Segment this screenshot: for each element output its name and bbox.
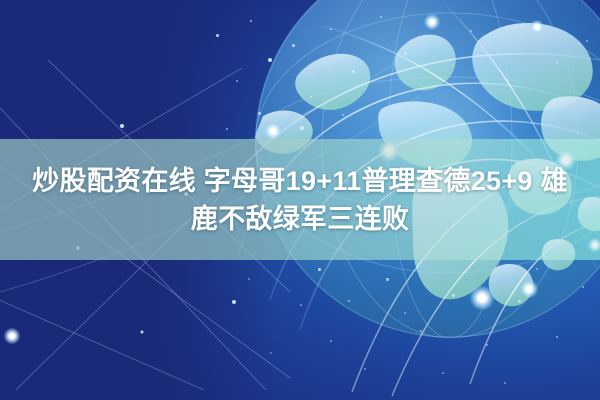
glow-node (264, 122, 282, 140)
headline-text: 炒股配资在线 字母哥19+11普理查德25+9 雄 鹿不敌绿军三连败 (0, 139, 600, 260)
glow-node (424, 14, 440, 30)
glow-node (520, 280, 538, 298)
glow-node (4, 328, 20, 344)
glow-node (470, 286, 494, 310)
banner-image: 炒股配资在线 字母哥19+11普理查德25+9 雄 鹿不敌绿军三连败 (0, 0, 600, 400)
glow-node (530, 20, 544, 34)
headline-line-1: 炒股配资在线 字母哥19+11普理查德25+9 雄 (32, 166, 568, 196)
headline-line-2: 鹿不敌绿军三连败 (191, 204, 409, 234)
